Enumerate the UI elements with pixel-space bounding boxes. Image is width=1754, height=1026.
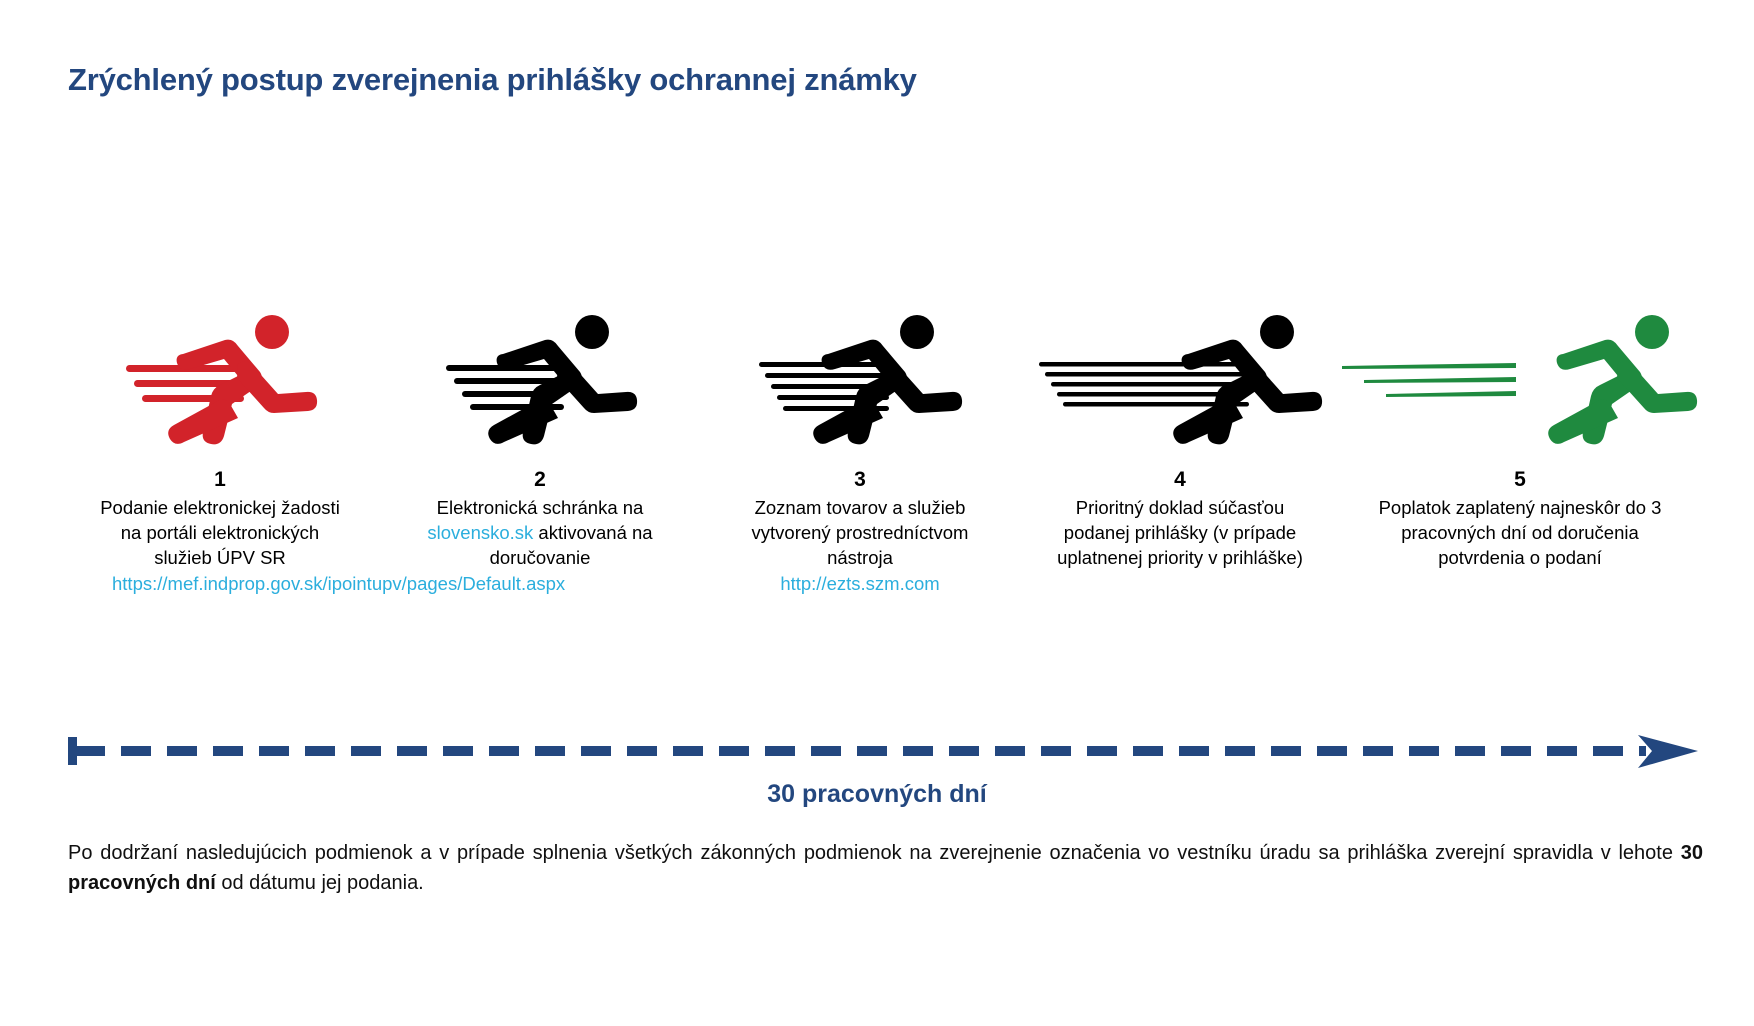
step-number: 5	[1514, 468, 1526, 491]
footer-note: Po dodržaní nasledujúcich podmienok a v …	[68, 838, 1703, 898]
timeline-arrow-svg	[68, 735, 1698, 769]
runner-icon	[120, 310, 320, 450]
runner-icon-wrap-5	[1340, 300, 1700, 450]
step-number: 2	[534, 468, 546, 491]
footer-note-part1: Po dodržaní nasledujúcich podmienok a v …	[68, 842, 1681, 864]
step-item-2: 2 Elektronická schránka na slovensko.sk …	[380, 300, 700, 571]
step-item-3: 3 Zoznam tovarov a služieb vytvorený pro…	[700, 300, 1020, 596]
step-description: Prioritný doklad súčasťou podanej prihlá…	[1049, 495, 1311, 570]
runner-icon	[440, 310, 640, 450]
step-item-5: 5 Poplatok zaplatený najneskôr do 3 prac…	[1340, 300, 1700, 571]
step-description-text: Zoznam tovarov a služieb vytvorený prost…	[752, 497, 969, 568]
step-description: Elektronická schránka na slovensko.sk ak…	[415, 495, 665, 570]
runner-icon-wrap-2	[380, 300, 700, 450]
step-number: 3	[854, 468, 866, 491]
runner-icon-wrap-4	[1020, 300, 1340, 450]
step-url-link[interactable]: https://mef.indprop.gov.sk/ipointupv/pag…	[112, 571, 328, 596]
page-title: Zrýchlený postup zverejnenia prihlášky o…	[68, 62, 917, 98]
step-description-text-before: Elektronická schránka na	[437, 497, 644, 518]
timeline-arrow-head	[1638, 735, 1698, 768]
runner-icon-wrap-3	[700, 300, 1020, 450]
step-url-link[interactable]: http://ezts.szm.com	[729, 571, 991, 596]
step-description: Podanie elektronickej žadosti na portáli…	[95, 495, 345, 596]
step-inline-link[interactable]: slovensko.sk	[427, 522, 533, 543]
timeline-arrow	[68, 735, 1698, 769]
step-item-4: 4 Prioritný doklad súčasťou podanej prih…	[1020, 300, 1340, 571]
runner-icon	[755, 310, 965, 450]
footer-note-part2: od dátumu jej podania.	[216, 872, 424, 894]
timeline-label: 30 pracovných dní	[0, 780, 1754, 809]
step-number: 4	[1174, 468, 1186, 491]
step-item-1: 1 Podanie elektronickej žadosti na portá…	[60, 300, 380, 596]
step-description: Zoznam tovarov a služieb vytvorený prost…	[729, 495, 991, 596]
runner-icon	[1035, 310, 1325, 450]
runner-icon-wrap-1	[60, 300, 380, 450]
step-description: Poplatok zaplatený najneskôr do 3 pracov…	[1370, 495, 1670, 570]
step-description-text: Podanie elektronickej žadosti na portáli…	[100, 497, 340, 568]
runner-icon	[1340, 310, 1700, 450]
step-number: 1	[214, 468, 226, 491]
steps-row: 1 Podanie elektronickej žadosti na portá…	[60, 300, 1700, 596]
